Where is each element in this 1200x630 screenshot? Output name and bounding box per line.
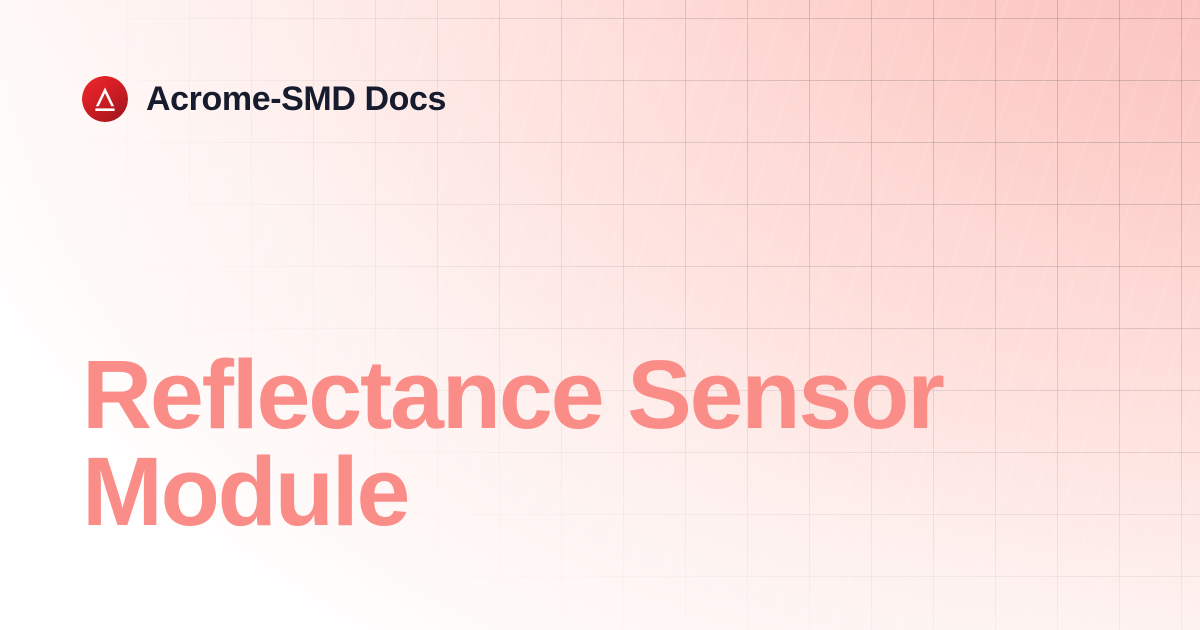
acrome-triangle-logo-icon [82, 76, 128, 122]
social-card: Acrome-SMD Docs Reflectance Sensor Modul… [0, 0, 1200, 630]
brand: Acrome-SMD Docs [82, 76, 446, 122]
page-title: Reflectance Sensor Module [82, 346, 1042, 540]
brand-name: Acrome-SMD Docs [146, 82, 446, 116]
